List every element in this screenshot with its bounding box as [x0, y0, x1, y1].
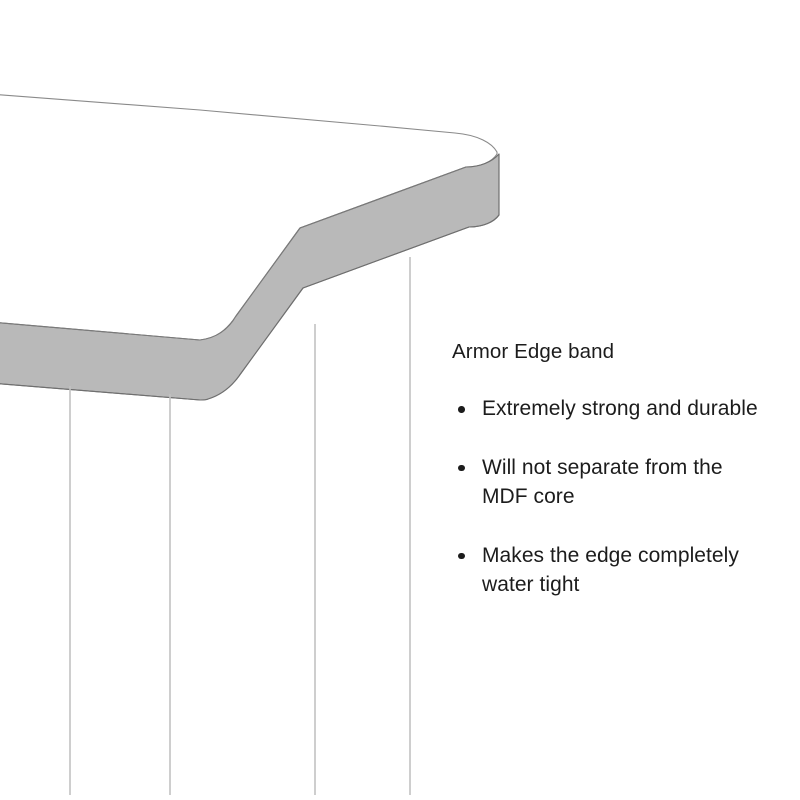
- bullet-text: Extremely strong and durable: [482, 394, 772, 424]
- bullet-text: Will not separate from the MDF core: [482, 453, 772, 512]
- list-item: Makes the edge completely water tight: [452, 541, 772, 600]
- bullet-dot-icon: [458, 553, 465, 560]
- feature-bullet-list: Extremely strong and durable Will not se…: [452, 394, 772, 600]
- list-item: Extremely strong and durable: [452, 394, 772, 424]
- bullet-dot-icon: [458, 465, 465, 472]
- callout-title: Armor Edge band: [452, 340, 772, 364]
- bullet-dot-icon: [458, 406, 465, 413]
- page-root: Armor Edge band Extremely strong and dur…: [0, 0, 800, 800]
- list-item: Will not separate from the MDF core: [452, 453, 772, 512]
- bullet-text: Makes the edge completely water tight: [482, 541, 772, 600]
- callout-block: Armor Edge band Extremely strong and dur…: [452, 340, 772, 600]
